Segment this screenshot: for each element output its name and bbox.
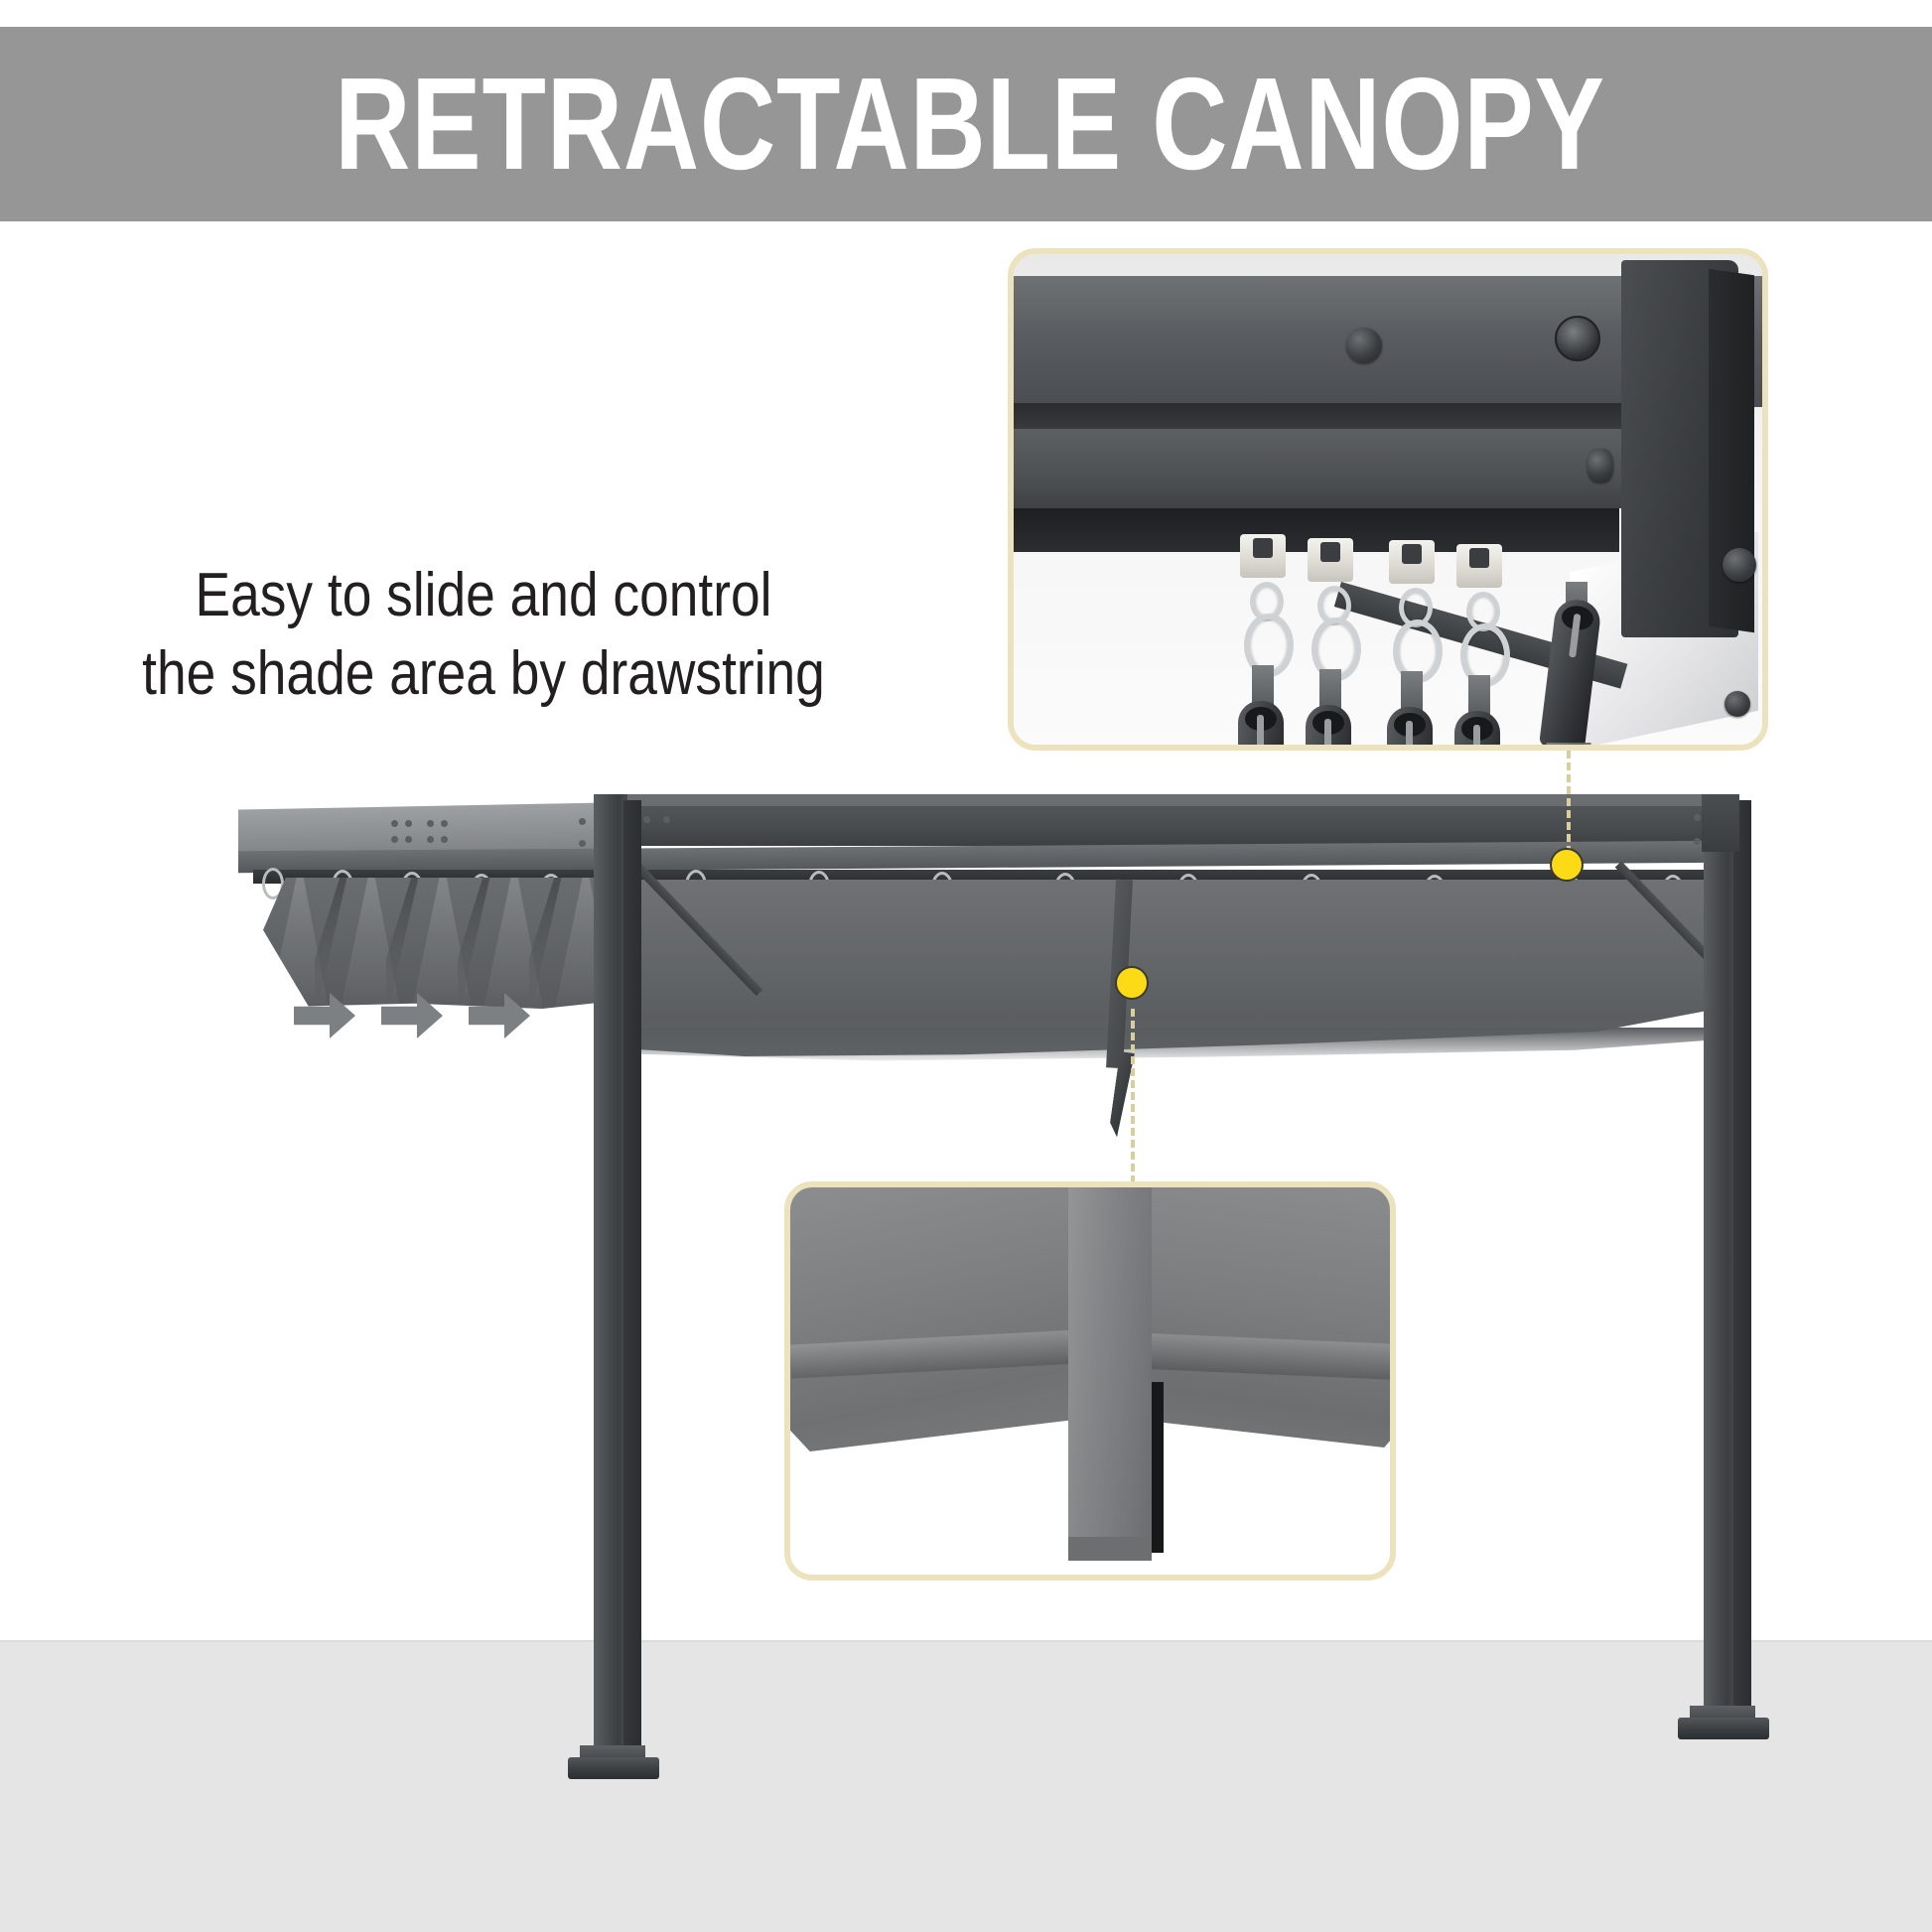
- post-right-side-face: [1733, 800, 1751, 1712]
- bolt-hole: [643, 816, 650, 823]
- webbing-strap: [1319, 669, 1341, 709]
- bolt-hole: [405, 836, 412, 843]
- slider-rail-marker[interactable]: [1550, 848, 1584, 882]
- bolt-hole: [663, 816, 670, 823]
- bolt-hole: [391, 836, 398, 843]
- drawstring-photo: [790, 1187, 1390, 1575]
- bolt-hole: [441, 820, 448, 827]
- post-left-side-face: [623, 800, 641, 1751]
- drawstring-strap: [1068, 1187, 1152, 1555]
- webbing-strap: [1252, 665, 1274, 705]
- webbing-strap: [1468, 675, 1490, 715]
- bolt-hole: [427, 836, 434, 843]
- bolt-hole-icon: [1725, 691, 1750, 717]
- bolt-hole: [427, 820, 434, 827]
- leader-line-bottom: [1131, 1009, 1135, 1183]
- bolt-hole: [441, 836, 448, 843]
- drawstring-marker[interactable]: [1115, 966, 1149, 1000]
- glide-carrier: [1389, 540, 1435, 584]
- pole-socket: [1387, 707, 1433, 745]
- slider-rail-photo: [1014, 254, 1762, 745]
- leader-line-top: [1567, 751, 1571, 854]
- glide-carrier: [1456, 544, 1502, 588]
- product-infographic: RETRACTABLE CANOPY Easy to slide and con…: [0, 0, 1932, 1932]
- drawstring-strap-end: [1068, 1537, 1152, 1561]
- pin-icon: [1587, 449, 1613, 483]
- bolt-hole-icon: [1346, 328, 1382, 363]
- pole-socket: [1238, 701, 1284, 745]
- webbing-strap: [1401, 671, 1423, 711]
- pole-socket: [1306, 705, 1351, 745]
- post-left: [594, 794, 627, 1757]
- post-left-foot: [568, 1757, 659, 1779]
- bolt-hole-icon: [1723, 548, 1756, 582]
- canopy-fabric-retracted: [263, 878, 640, 1009]
- post-right-top-plate: [1702, 794, 1739, 852]
- hex-screw-icon: [1555, 316, 1600, 361]
- bolt-hole: [1694, 838, 1701, 845]
- bolt-hole: [579, 818, 586, 825]
- post-right-foot: [1678, 1718, 1769, 1739]
- pole-socket: [1454, 711, 1500, 745]
- post-right: [1704, 794, 1737, 1718]
- glide-carrier: [1308, 538, 1353, 582]
- bolt-hole: [391, 820, 398, 827]
- bolt-hole: [579, 840, 586, 847]
- glide-carrier: [1240, 534, 1286, 578]
- top-beam-highlight: [596, 794, 1727, 806]
- bolt-hole: [405, 820, 412, 827]
- inset-slider-rail: [1008, 248, 1768, 751]
- canopy-fabric-sag: [635, 1028, 1727, 1065]
- bolt-hole: [1694, 814, 1701, 821]
- inset-drawstring: [784, 1181, 1396, 1581]
